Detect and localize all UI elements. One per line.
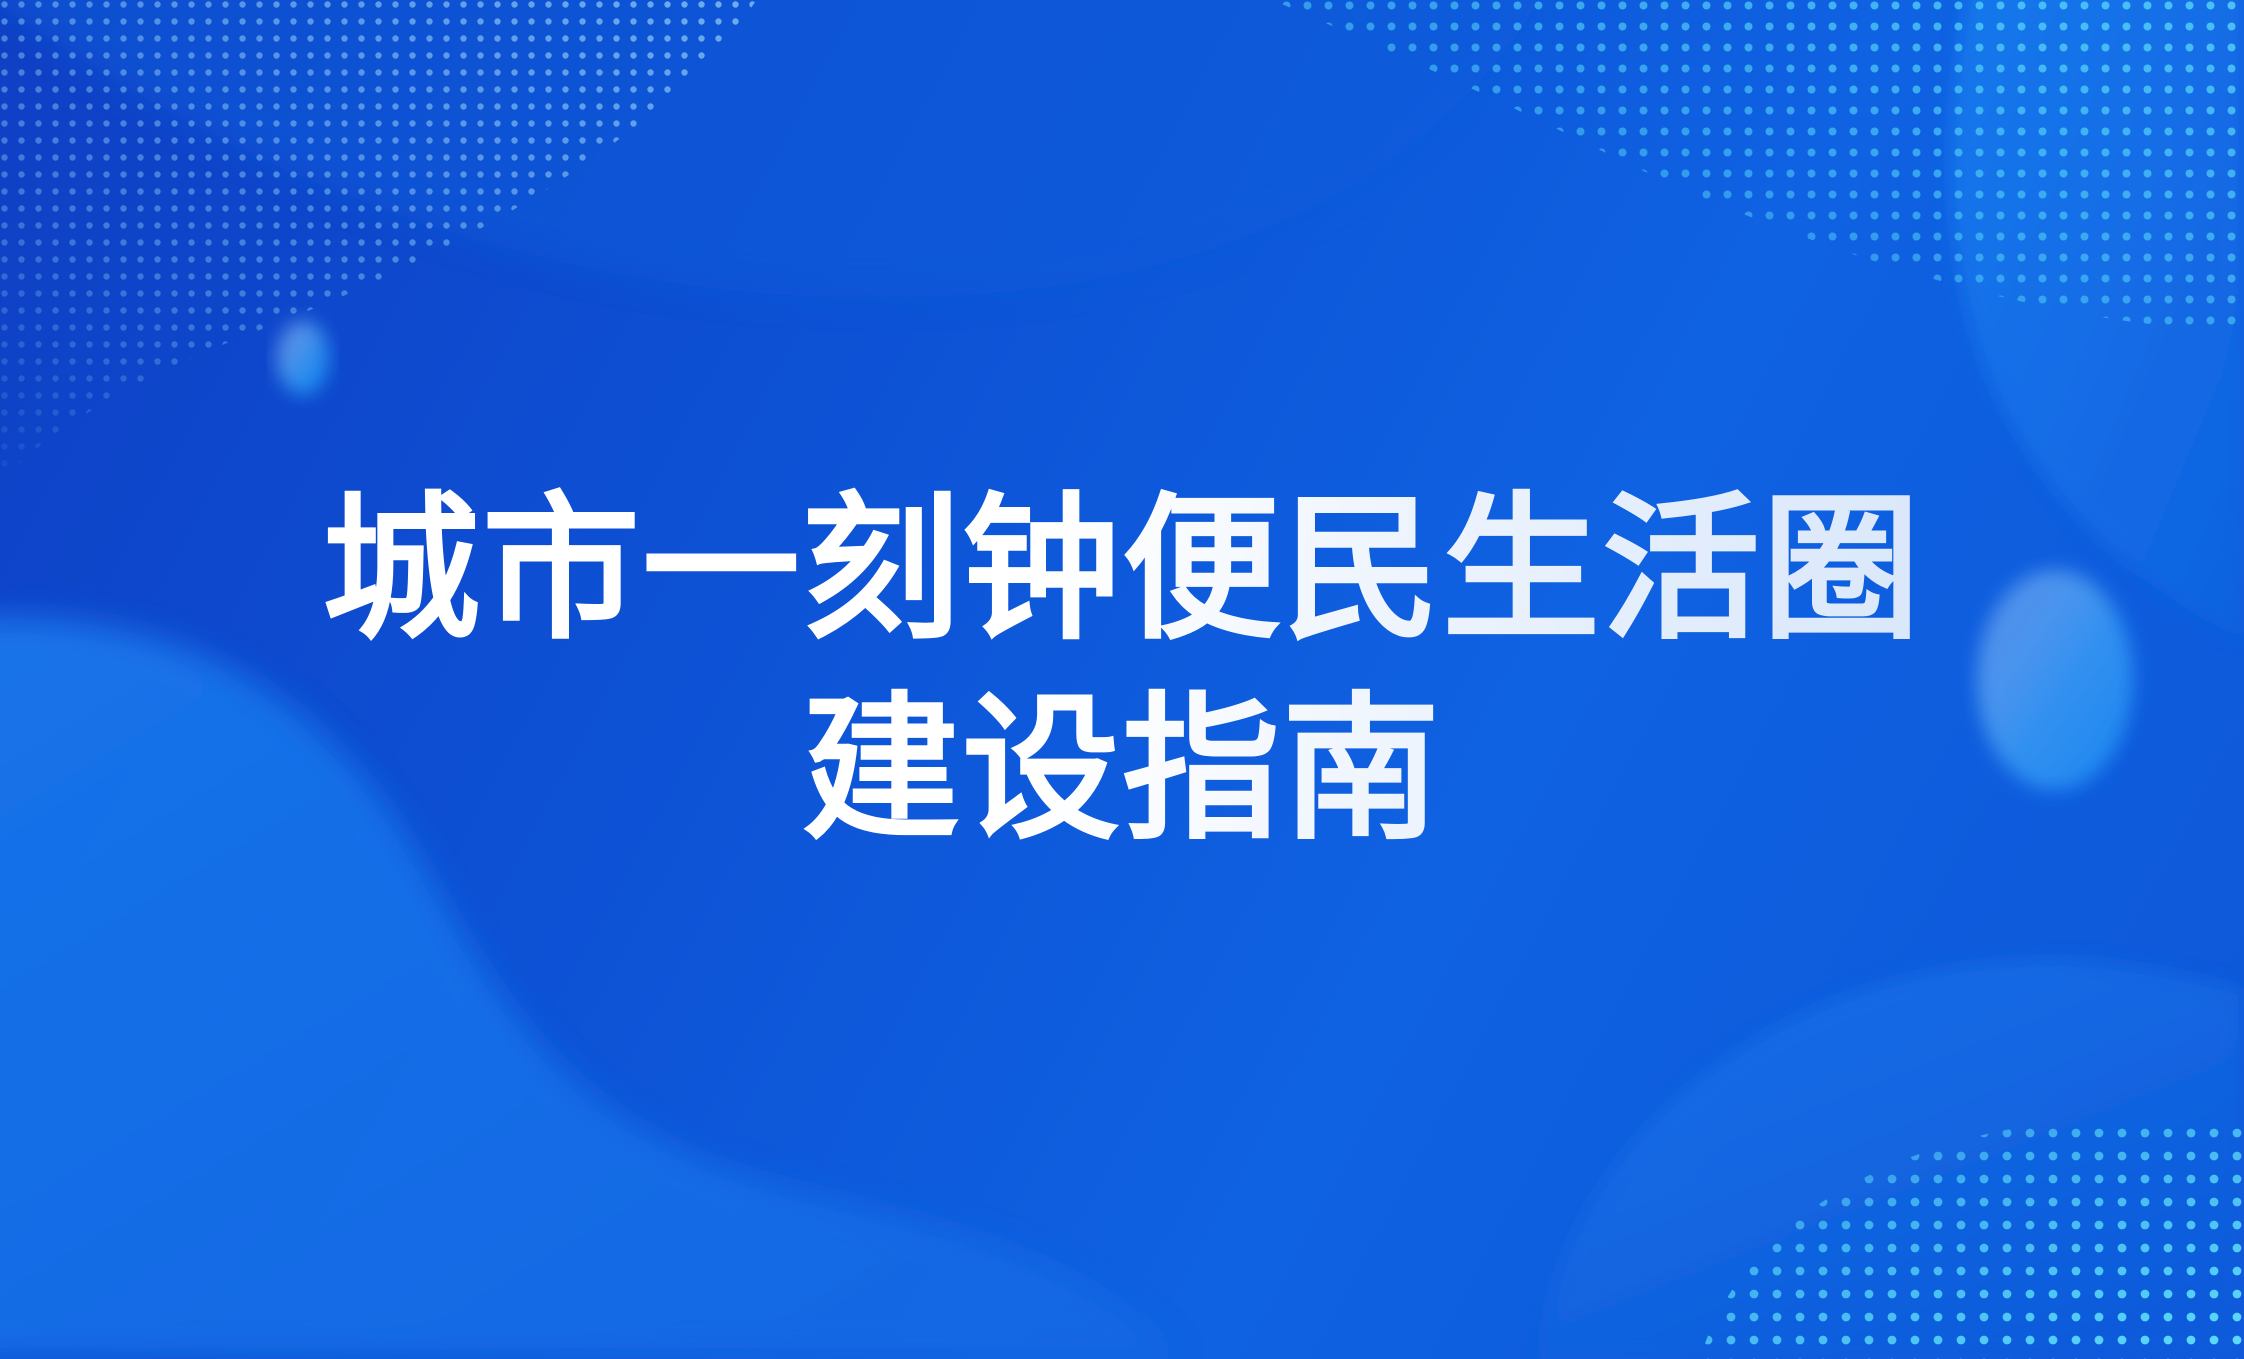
- halftone-dots-bottom-right: [1680, 1090, 2244, 1359]
- blob-bottom-right: [1540, 960, 2244, 1359]
- poster-banner: 城市一刻钟便民生活圈 建设指南: [0, 0, 2244, 1359]
- poster-title-block: 城市一刻钟便民生活圈 建设指南: [0, 470, 2244, 870]
- halftone-dots-top-right: [1160, 0, 2244, 380]
- ellipse-left-small: [277, 321, 329, 395]
- poster-title-line-1: 城市一刻钟便民生活圈: [0, 470, 2244, 670]
- poster-title-line-2: 建设指南: [0, 670, 2244, 870]
- arc-top-center: [0, 0, 1560, 298]
